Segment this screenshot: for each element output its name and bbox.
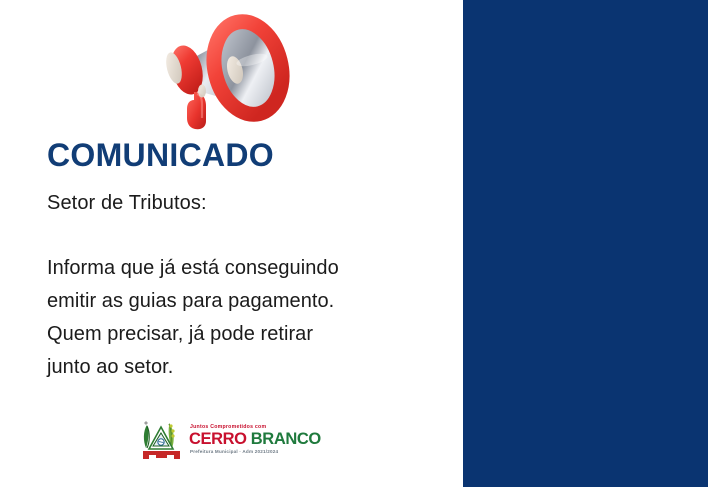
logo-tagline-bottom: Prefeitura Municipal · Adm 2021/2024 bbox=[189, 450, 321, 455]
megaphone-icon bbox=[140, 8, 305, 133]
side-accent-panel bbox=[463, 0, 708, 487]
footer-logo: Juntos Comprometidos com CERRO BRANCO Pr… bbox=[138, 414, 313, 464]
announcement-card: COMUNICADO Setor de Tributos: Informa qu… bbox=[0, 0, 708, 487]
body-line: Quem precisar, já pode retirar bbox=[47, 318, 459, 351]
body-line: junto ao setor. bbox=[47, 351, 459, 384]
page-title: COMUNICADO bbox=[47, 138, 274, 173]
announcement-subject: Setor de Tributos: bbox=[47, 191, 207, 216]
logo-title: CERRO BRANCO bbox=[189, 431, 321, 448]
logo-title-branco: BRANCO bbox=[251, 430, 321, 448]
logo-wordmark: Juntos Comprometidos com CERRO BRANCO Pr… bbox=[189, 424, 321, 454]
body-line: emitir as guias para pagamento. bbox=[47, 285, 459, 318]
announcement-content: COMUNICADO Setor de Tributos: Informa qu… bbox=[0, 0, 463, 487]
logo-title-cerro: CERRO bbox=[189, 430, 247, 448]
body-line: Informa que já está conseguindo bbox=[47, 252, 459, 285]
coat-of-arms-icon bbox=[138, 415, 185, 463]
announcement-body: Informa que já está conseguindo emitir a… bbox=[47, 252, 459, 384]
